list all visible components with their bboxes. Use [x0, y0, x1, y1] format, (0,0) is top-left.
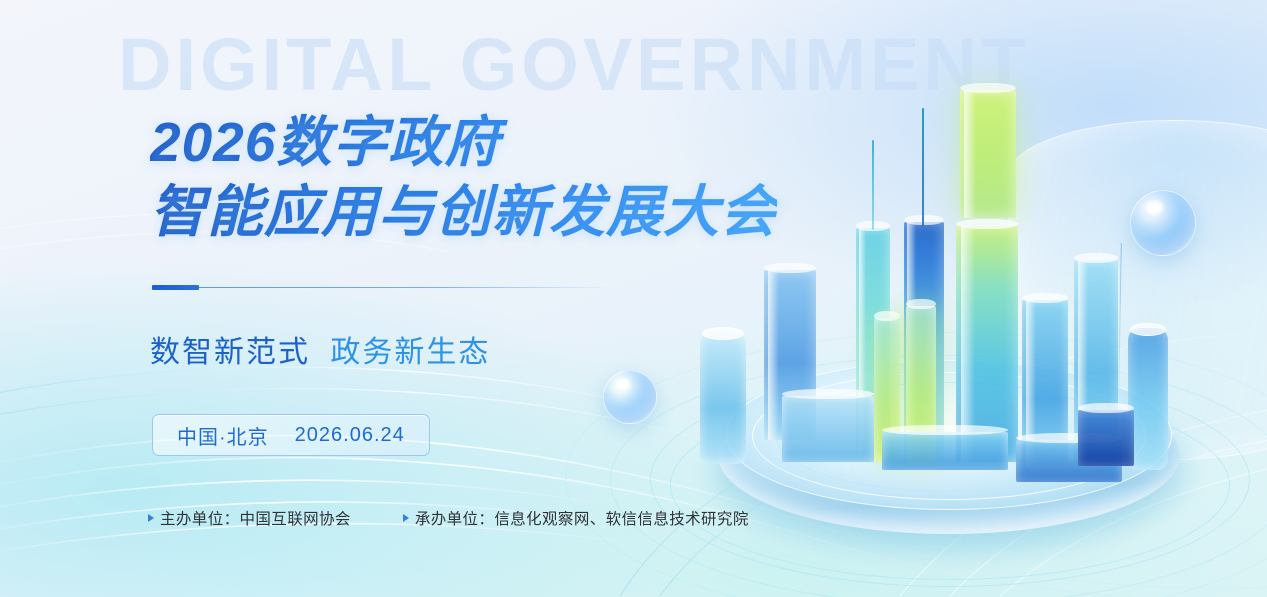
building-front-block-left [782, 396, 874, 462]
building-front-block-darkblue [1078, 410, 1134, 466]
building-blue-tower [904, 222, 944, 462]
title-divider [152, 285, 612, 290]
organizers-row: 主办单位：中国互联网协会 承办单位：信息化观察网、软信信息技术研究院 [148, 507, 749, 529]
triangle-bullet-icon [148, 514, 154, 522]
disc-ring-outer [752, 372, 1146, 500]
subtitle-part-1: 数智新范式 [150, 336, 310, 369]
organizer-coorganizer: 承办单位：信息化观察网、软信信息技术研究院 [403, 507, 749, 529]
triangle-bullet-icon [403, 514, 409, 522]
building-shine [907, 222, 916, 462]
building-right-b [1074, 260, 1118, 466]
disc-glow [700, 380, 1200, 560]
glass-cylinder-decoration [1004, 120, 1267, 460]
building-shine [964, 90, 976, 218]
subtitle-block: 数智新范式 政务新生态 [150, 327, 490, 371]
ripple-ring-4 [565, 332, 1267, 597]
building-shine [768, 270, 779, 440]
building-left-cylinder [700, 332, 746, 464]
building-crystal-tower-top [960, 90, 1016, 218]
building-back-left [764, 270, 816, 440]
location-text: 中国·北京 [177, 421, 269, 450]
title-line-2: 智能应用与创新发展大会 [150, 177, 777, 248]
ripple-ring-3 [610, 355, 1267, 597]
date-text: 2026.06.24 [295, 424, 405, 447]
watermark-text: DIGITAL GOVERNMENT [118, 22, 1030, 107]
building-shine [961, 226, 975, 462]
building-right-a [1022, 300, 1068, 466]
ripple-ring-2 [650, 372, 1250, 587]
date-location-badge: 中国·北京 2026.06.24 [152, 414, 430, 456]
subtitle-part-2: 政务新生态 [330, 336, 490, 369]
building-green-slim-a [874, 318, 900, 462]
headline-block: 2026数字政府 智能应用与创新发展大会 [150, 108, 777, 248]
title-line-1: 2026数字政府 [150, 108, 777, 177]
building-front-block-center [882, 432, 1008, 470]
disc-ring-inner [776, 382, 1122, 492]
spire-left [872, 140, 874, 230]
bubble-right [1130, 190, 1196, 256]
divider-accent [152, 285, 199, 290]
building-right-cylinder [1128, 328, 1168, 470]
ripple-ring-1 [670, 390, 1230, 580]
building-shine [1026, 300, 1036, 466]
organizer-host: 主办单位：中国互联网协会 [148, 507, 351, 529]
organizer-host-label: 主办单位：中国互联网协会 [160, 507, 351, 529]
building-shine [859, 228, 866, 456]
bubble-left [603, 370, 657, 424]
organizer-coorganizer-label: 承办单位：信息化观察网、软信信息技术研究院 [415, 507, 749, 529]
building-front-block-right [1016, 440, 1122, 482]
spire-blue-tower [922, 108, 924, 226]
disc-top [726, 360, 1172, 510]
building-mid-left-tall [856, 228, 890, 456]
divider-line [199, 287, 612, 289]
building-green-slim-b [906, 306, 936, 464]
building-shine [1078, 260, 1088, 466]
poster-canvas: DIGITAL GOVERNMENT [0, 0, 1267, 597]
building-crystal-tower-bottom [956, 226, 1018, 462]
disc-base [718, 376, 1180, 534]
